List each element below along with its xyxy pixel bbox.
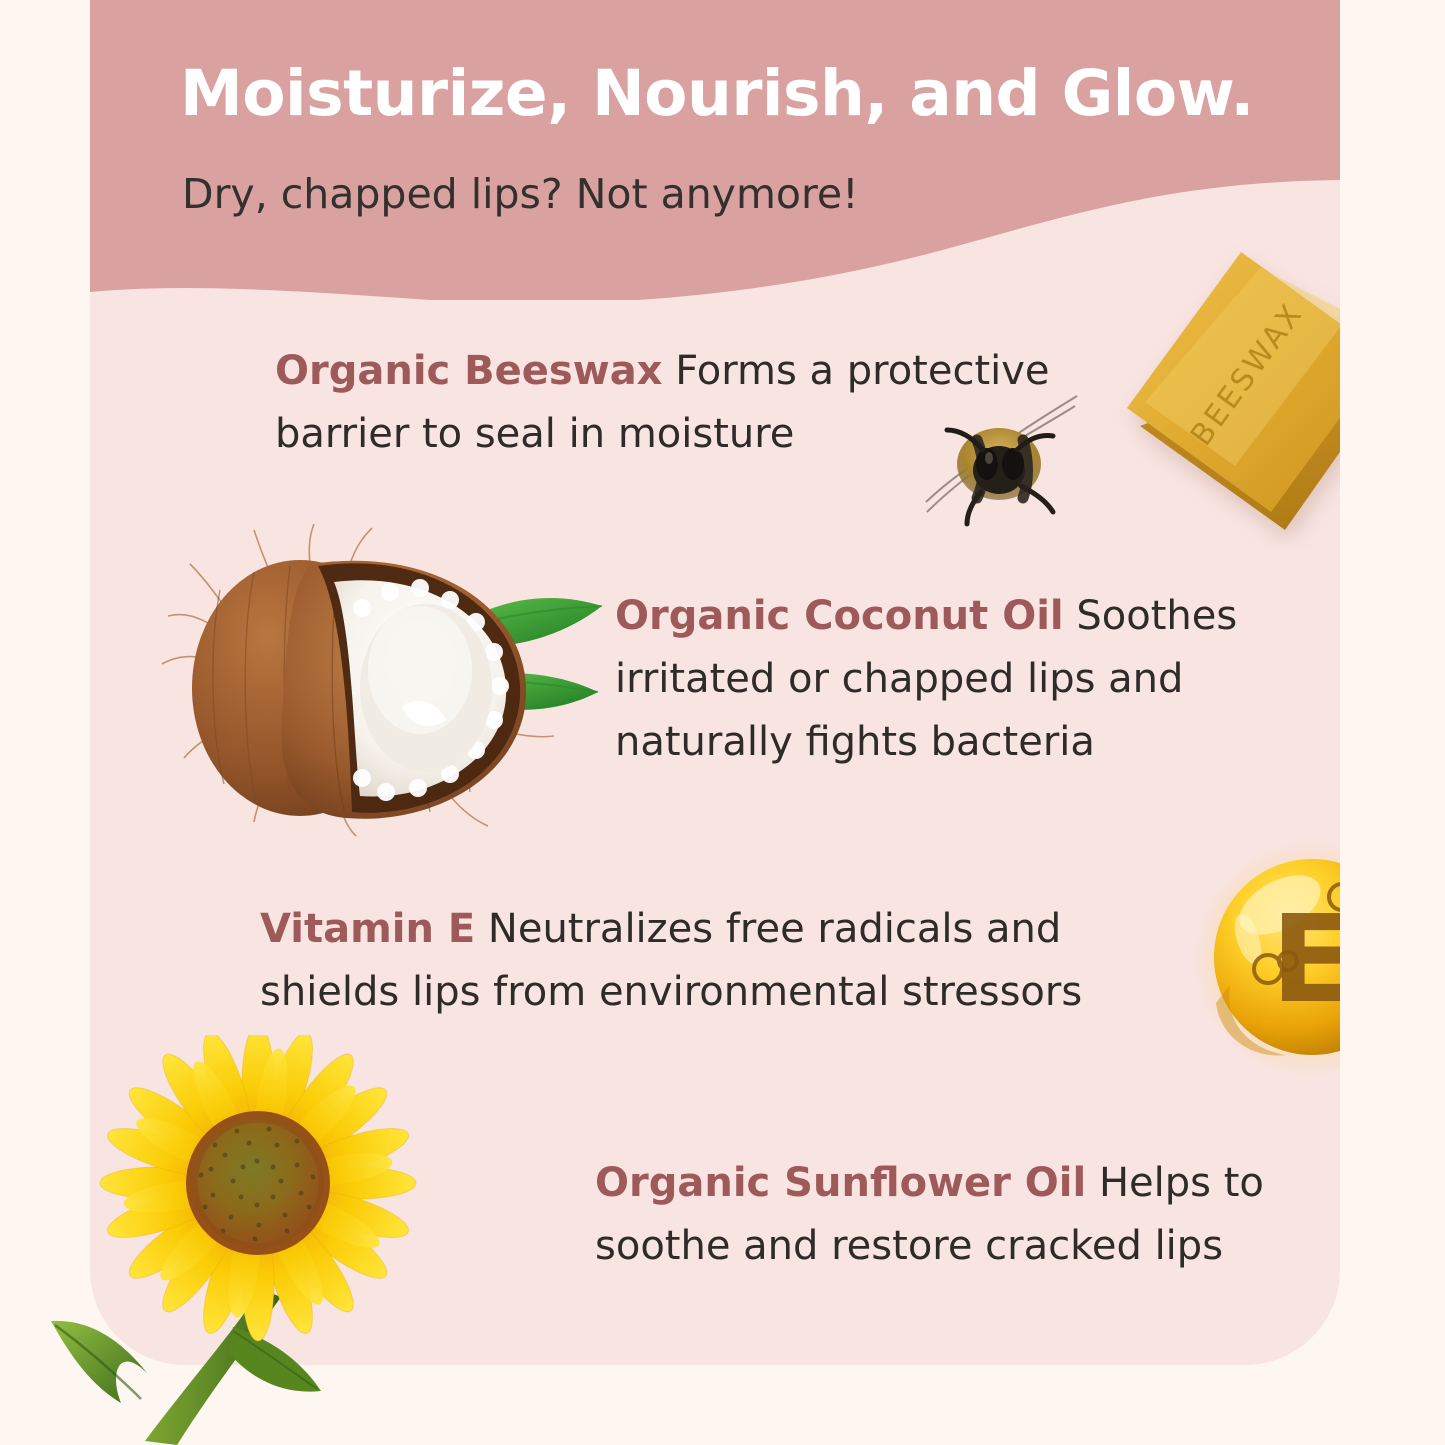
ingredient-lead-beeswax: Organic Beeswax	[275, 348, 662, 394]
page-title: Moisturize, Nourish, and Glow.	[180, 62, 1340, 125]
ingredient-block-beeswax: Organic Beeswax Forms a protective barri…	[275, 340, 1115, 466]
coconut-image	[150, 520, 620, 840]
header-wave-panel	[90, 0, 1340, 300]
vitamin-e-capsule-image: E	[1190, 835, 1340, 1085]
ingredient-lead-vitamin-e: Vitamin E	[260, 906, 475, 952]
beeswax-embossed-label: BEESWAX	[1184, 296, 1311, 452]
page-subtitle: Dry, chapped lips? Not anymore!	[182, 170, 1182, 218]
ingredient-block-coconut-oil: Organic Coconut Oil Soothes irritated or…	[615, 585, 1315, 775]
ingredient-block-sunflower-oil: Organic Sunflower Oil Helps to soothe an…	[595, 1152, 1335, 1278]
content-card: Moisturize, Nourish, and Glow. Dry, chap…	[90, 0, 1340, 1365]
ingredient-block-vitamin-e: Vitamin E Neutralizes free radicals and …	[260, 898, 1170, 1024]
vitamin-e-letter: E	[1271, 891, 1340, 1030]
coconut-leaf-group	[450, 598, 602, 710]
ingredient-lead-coconut-oil: Organic Coconut Oil	[615, 593, 1064, 639]
infographic-stage: Moisturize, Nourish, and Glow. Dry, chap…	[0, 0, 1445, 1445]
ingredient-lead-sunflower-oil: Organic Sunflower Oil	[595, 1160, 1086, 1206]
